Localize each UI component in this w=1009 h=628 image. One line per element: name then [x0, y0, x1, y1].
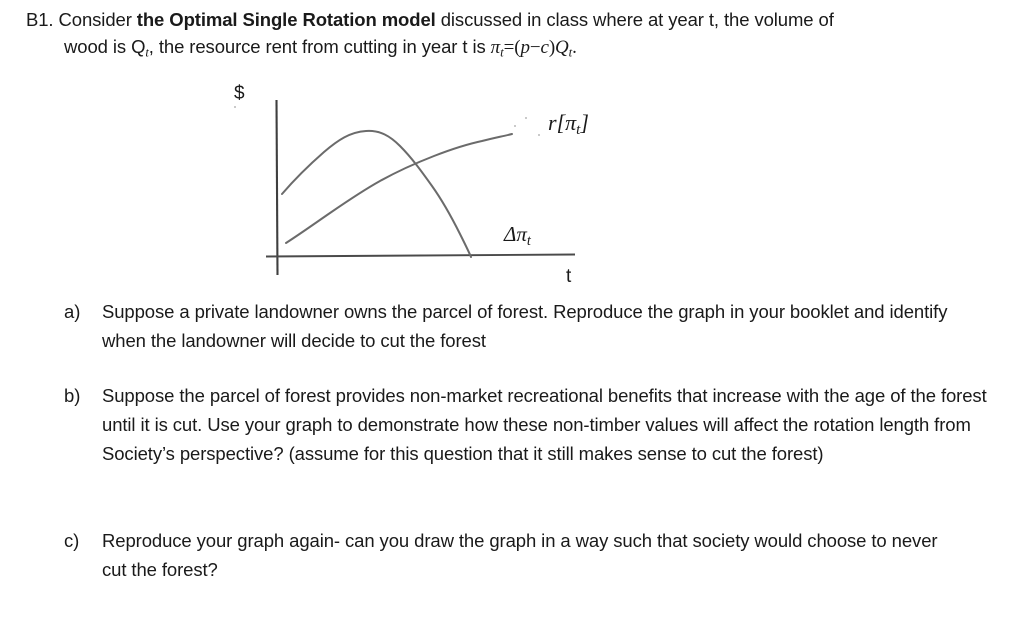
rotation-model-graph: $ t r[πt] Δπt — [220, 76, 640, 296]
y-axis-label: $ — [234, 83, 245, 105]
stem-line-1: B1. Consider the Optimal Single Rotation… — [26, 6, 986, 33]
eq-pi: π — [491, 37, 500, 58]
question-marker-b: b) — [62, 381, 102, 468]
question-stem: B1. Consider the Optimal Single Rotation… — [26, 6, 986, 61]
question-text-b: Suppose the parcel of forest provides no… — [102, 381, 1002, 468]
question-text-c: Reproduce your graph again- can you draw… — [102, 526, 962, 584]
curve-r-pi — [286, 134, 512, 243]
stem-line1-post: discussed in class where at year t, the … — [436, 9, 834, 30]
question-marker-a: a) — [62, 297, 102, 355]
stem-line-2: wood is Qt, the resource rent from cutti… — [26, 33, 986, 61]
question-item-b: b) Suppose the parcel of forest provides… — [62, 381, 1002, 468]
stem-model-name: the Optimal Single Rotation model — [137, 9, 436, 30]
stem-line2-pre: wood is Q — [64, 36, 145, 57]
eq-period: . — [572, 37, 577, 58]
scan-speck — [525, 117, 527, 119]
question-item-c: c) Reproduce your graph again- can you d… — [62, 526, 962, 584]
stem-equation: πt=(p−c)Qt. — [491, 37, 577, 58]
question-item-a: a) Suppose a private landowner owns the … — [62, 297, 962, 355]
question-text-a: Suppose a private landowner owns the par… — [102, 297, 962, 355]
question-number: B1. — [26, 9, 53, 30]
x-axis-line — [266, 255, 575, 257]
question-marker-c: c) — [62, 526, 102, 584]
x-axis-label: t — [566, 266, 571, 288]
curve-label-delta-pi-subscript: t — [527, 233, 531, 249]
curve-label-r-pi: r[πt] — [548, 110, 589, 136]
curve-label-bracket-close: ] — [580, 110, 589, 135]
eq-Q: Q — [555, 37, 569, 58]
eq-c: c — [540, 37, 548, 58]
curve-label-delta-pi-main: Δπ — [504, 222, 527, 246]
stem-line2-mid: , the resource rent from cutting in year… — [149, 36, 491, 57]
curve-label-pi: π — [565, 110, 576, 135]
stem-line1-pre-text: Consider — [59, 9, 137, 30]
scan-speck — [538, 134, 540, 136]
scan-speck — [234, 106, 236, 108]
graph-svg — [220, 76, 640, 296]
curve-delta-pi — [282, 131, 471, 257]
eq-equals-open: =( — [504, 37, 521, 58]
eq-minus: − — [530, 37, 541, 58]
y-axis-line — [277, 100, 278, 275]
eq-p: p — [520, 37, 529, 58]
worksheet-page: B1. Consider the Optimal Single Rotation… — [0, 0, 1009, 628]
scan-speck — [514, 125, 516, 127]
curve-label-bracket-open: [ — [557, 110, 566, 135]
curve-label-r: r — [548, 110, 557, 135]
curve-label-delta-pi: Δπt — [504, 222, 531, 247]
